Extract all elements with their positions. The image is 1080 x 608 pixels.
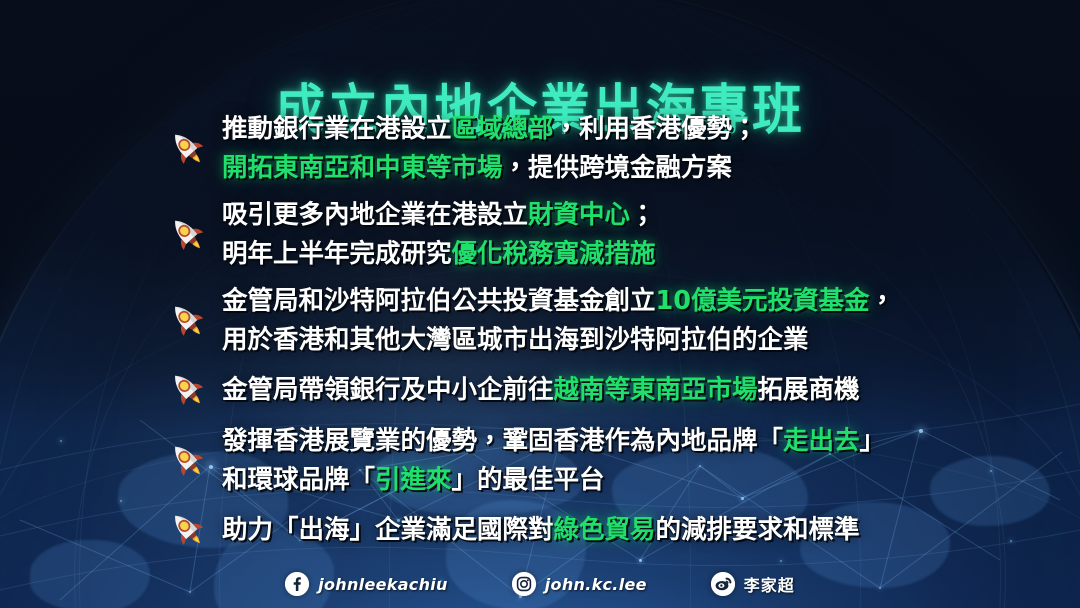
social-link-instagram[interactable]: john.kc.lee — [512, 572, 647, 596]
highlight-text: 走出去 — [783, 426, 860, 456]
poster-canvas: 成立內地企業出海專班 推動銀行業在港設立區域總部，利用香港優勢；開拓東南亞和中東… — [0, 0, 1080, 608]
plain-text: 拓展商機 — [758, 375, 860, 405]
highlight-text: 10億美元投資基金 — [656, 286, 870, 316]
rocket-icon — [166, 213, 210, 257]
bullet-text: 金管局帶領銀行及中小企前往越南等東南亞市場拓展商機 — [164, 371, 860, 410]
bullet-item: 金管局和沙特阿拉伯公共投資基金創立10億美元投資基金，用於香港和其他大灣區城市出… — [0, 282, 1080, 360]
bullet-item: 推動銀行業在港設立區域總部，利用香港優勢；開拓東南亞和中東等市場，提供跨境金融方… — [0, 110, 1080, 188]
plain-text: 的減排要求和標準 — [656, 515, 860, 545]
social-link-facebook[interactable]: johnleekachiu — [285, 572, 448, 596]
bullet-line: 金管局帶領銀行及中小企前往越南等東南亞市場拓展商機 — [222, 371, 860, 410]
bullet-line: 推動銀行業在港設立區域總部，利用香港優勢； — [222, 110, 758, 149]
highlight-text: 財資中心 — [528, 200, 630, 230]
bullet-item: 金管局帶領銀行及中小企前往越南等東南亞市場拓展商機 — [0, 368, 1080, 412]
bullet-text: 發揮香港展覽業的優勢，鞏固香港作為內地品牌「走出去」和環球品牌「引進來」的最佳平… — [164, 422, 885, 500]
plain-text: 用於香港和其他大灣區城市出海到沙特阿拉伯的企業 — [222, 325, 809, 355]
bullet-line: 用於香港和其他大灣區城市出海到沙特阿拉伯的企業 — [222, 321, 895, 360]
highlight-text: 越南等東南亞市場 — [554, 375, 758, 405]
rocket-icon — [166, 299, 210, 343]
bullet-line: 明年上半年完成研究優化稅務寬減措施 — [222, 235, 656, 274]
plain-text: 金管局帶領銀行及中小企前往 — [222, 375, 554, 405]
plain-text: 金管局和沙特阿拉伯公共投資基金創立 — [222, 286, 656, 316]
plain-text: ； — [630, 200, 656, 230]
plain-text: ，提供跨境金融方案 — [503, 153, 733, 183]
bullet-line: 發揮香港展覽業的優勢，鞏固香港作為內地品牌「走出去」 — [222, 422, 885, 461]
bullet-line: 助力「出海」企業滿足國際對綠色貿易的減排要求和標準 — [222, 511, 860, 550]
rocket-icon — [166, 127, 210, 171]
rocket-icon — [166, 368, 210, 412]
weibo-icon[interactable] — [711, 572, 735, 596]
plain-text: 」的最佳平台 — [452, 465, 605, 495]
plain-text: 和環球品牌「 — [222, 465, 375, 495]
plain-text: 發揮香港展覽業的優勢，鞏固香港作為內地品牌「 — [222, 426, 783, 456]
bullet-text: 金管局和沙特阿拉伯公共投資基金創立10億美元投資基金，用於香港和其他大灣區城市出… — [164, 282, 895, 360]
plain-text: 助力「出海」企業滿足國際對 — [222, 515, 554, 545]
facebook-icon[interactable] — [285, 572, 309, 596]
social-handle: 李家超 — [744, 572, 795, 596]
bullet-line: 和環球品牌「引進來」的最佳平台 — [222, 461, 885, 500]
plain-text: 推動銀行業在港設立 — [222, 114, 452, 144]
highlight-text: 優化稅務寬減措施 — [452, 239, 656, 269]
highlight-text: 開拓東南亞和中東等市場 — [222, 153, 503, 183]
bullet-list: 推動銀行業在港設立區域總部，利用香港優勢；開拓東南亞和中東等市場，提供跨境金融方… — [0, 110, 1080, 562]
plain-text: ，利用香港優勢； — [554, 114, 758, 144]
social-link-weibo[interactable]: 李家超 — [711, 572, 795, 596]
bullet-item: 發揮香港展覽業的優勢，鞏固香港作為內地品牌「走出去」和環球品牌「引進來」的最佳平… — [0, 422, 1080, 500]
bullet-text: 助力「出海」企業滿足國際對綠色貿易的減排要求和標準 — [164, 511, 860, 550]
rocket-icon — [166, 508, 210, 552]
highlight-text: 綠色貿易 — [554, 515, 656, 545]
plain-text: 明年上半年完成研究 — [222, 239, 452, 269]
bullet-text: 推動銀行業在港設立區域總部，利用香港優勢；開拓東南亞和中東等市場，提供跨境金融方… — [164, 110, 758, 188]
bullet-line: 開拓東南亞和中東等市場，提供跨境金融方案 — [222, 149, 758, 188]
bullet-text: 吸引更多內地企業在港設立財資中心；明年上半年完成研究優化稅務寬減措施 — [164, 196, 656, 274]
plain-text: 」 — [860, 426, 886, 456]
bullet-line: 金管局和沙特阿拉伯公共投資基金創立10億美元投資基金， — [222, 282, 895, 321]
bullet-line: 吸引更多內地企業在港設立財資中心； — [222, 196, 656, 235]
bullet-item: 吸引更多內地企業在港設立財資中心；明年上半年完成研究優化稅務寬減措施 — [0, 196, 1080, 274]
bullet-item: 助力「出海」企業滿足國際對綠色貿易的減排要求和標準 — [0, 508, 1080, 552]
rocket-icon — [166, 439, 210, 483]
instagram-icon[interactable] — [512, 572, 536, 596]
plain-text: 吸引更多內地企業在港設立 — [222, 200, 528, 230]
social-footer: johnleekachiu john.kc.lee 李家超 — [0, 572, 1080, 596]
highlight-text: 區域總部 — [452, 114, 554, 144]
highlight-text: 引進來 — [375, 465, 452, 495]
social-handle: johnleekachiu — [318, 575, 448, 594]
social-handle: john.kc.lee — [545, 575, 647, 594]
plain-text: ， — [870, 286, 896, 316]
